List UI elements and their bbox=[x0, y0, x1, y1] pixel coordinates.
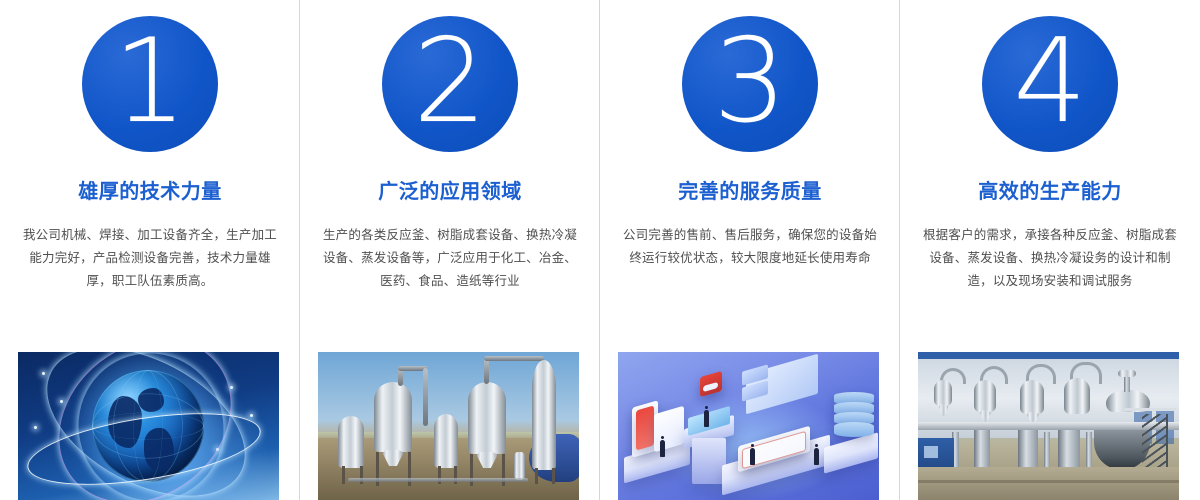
medallion-number-label: 3 bbox=[713, 24, 787, 140]
industrial-plant-platform-photo bbox=[918, 352, 1179, 500]
feature-panel-1[interactable]: 1 雄厚的技术力量 我公司机械、焊接、加工设备齐全，生产加工能力完好，产品检测设… bbox=[0, 0, 300, 500]
blue-globe-network-photo bbox=[18, 352, 279, 500]
feature-title-1: 雄厚的技术力量 bbox=[78, 180, 222, 204]
feature-title-2: 广泛的应用领域 bbox=[378, 180, 522, 204]
platform-deck bbox=[918, 422, 1179, 430]
feature-title-4: 高效的生产能力 bbox=[978, 180, 1122, 204]
globe-scene bbox=[18, 352, 279, 500]
feature-title-3: 完善的服务质量 bbox=[678, 180, 822, 204]
feature-description-3: 公司完善的售前、售后服务，确保您的设备始终运行较优状态，较大限度地延长使用寿命 bbox=[619, 224, 881, 270]
plant-scene bbox=[918, 352, 1179, 500]
feature-panel-3[interactable]: 3 完善的服务质量 公司完善的售前、售后服务，确保您的设备始终运行较优状态，较大… bbox=[600, 0, 900, 500]
isometric-service-illustration bbox=[618, 352, 879, 500]
number-medallion-3: 3 bbox=[682, 16, 818, 152]
number-medallion-1: 1 bbox=[82, 16, 218, 152]
number-medallion-2: 2 bbox=[382, 16, 518, 152]
isometric-scene bbox=[618, 352, 879, 500]
feature-panels-strip: 1 雄厚的技术力量 我公司机械、焊接、加工设备齐全，生产加工能力完好，产品检测设… bbox=[0, 0, 1200, 500]
feature-description-1: 我公司机械、焊接、加工设备齐全，生产加工能力完好，产品检测设备完善，技术力量雄厚… bbox=[19, 224, 281, 293]
stainless-tanks-outdoor-photo bbox=[318, 352, 579, 500]
feature-panel-4[interactable]: 4 高效的生产能力 根据客户的需求，承接各种反应釜、树脂成套设备、蒸发设备、换热… bbox=[900, 0, 1200, 500]
medallion-number-label: 1 bbox=[113, 24, 187, 140]
tanks-scene bbox=[318, 352, 579, 500]
feature-description-4: 根据客户的需求，承接各种反应釜、树脂成套设备、蒸发设备、换热冷凝设务的设计和制造… bbox=[919, 224, 1181, 293]
number-medallion-4: 4 bbox=[982, 16, 1118, 152]
feature-panel-2[interactable]: 2 广泛的应用领域 生产的各类反应釜、树脂成套设备、换热冷凝设备、蒸发设备等，广… bbox=[300, 0, 600, 500]
feature-description-2: 生产的各类反应釜、树脂成套设备、换热冷凝设备、蒸发设备等，广泛应用于化工、冶金、… bbox=[319, 224, 581, 293]
medallion-number-label: 4 bbox=[1013, 24, 1087, 140]
medallion-number-label: 2 bbox=[413, 24, 487, 140]
